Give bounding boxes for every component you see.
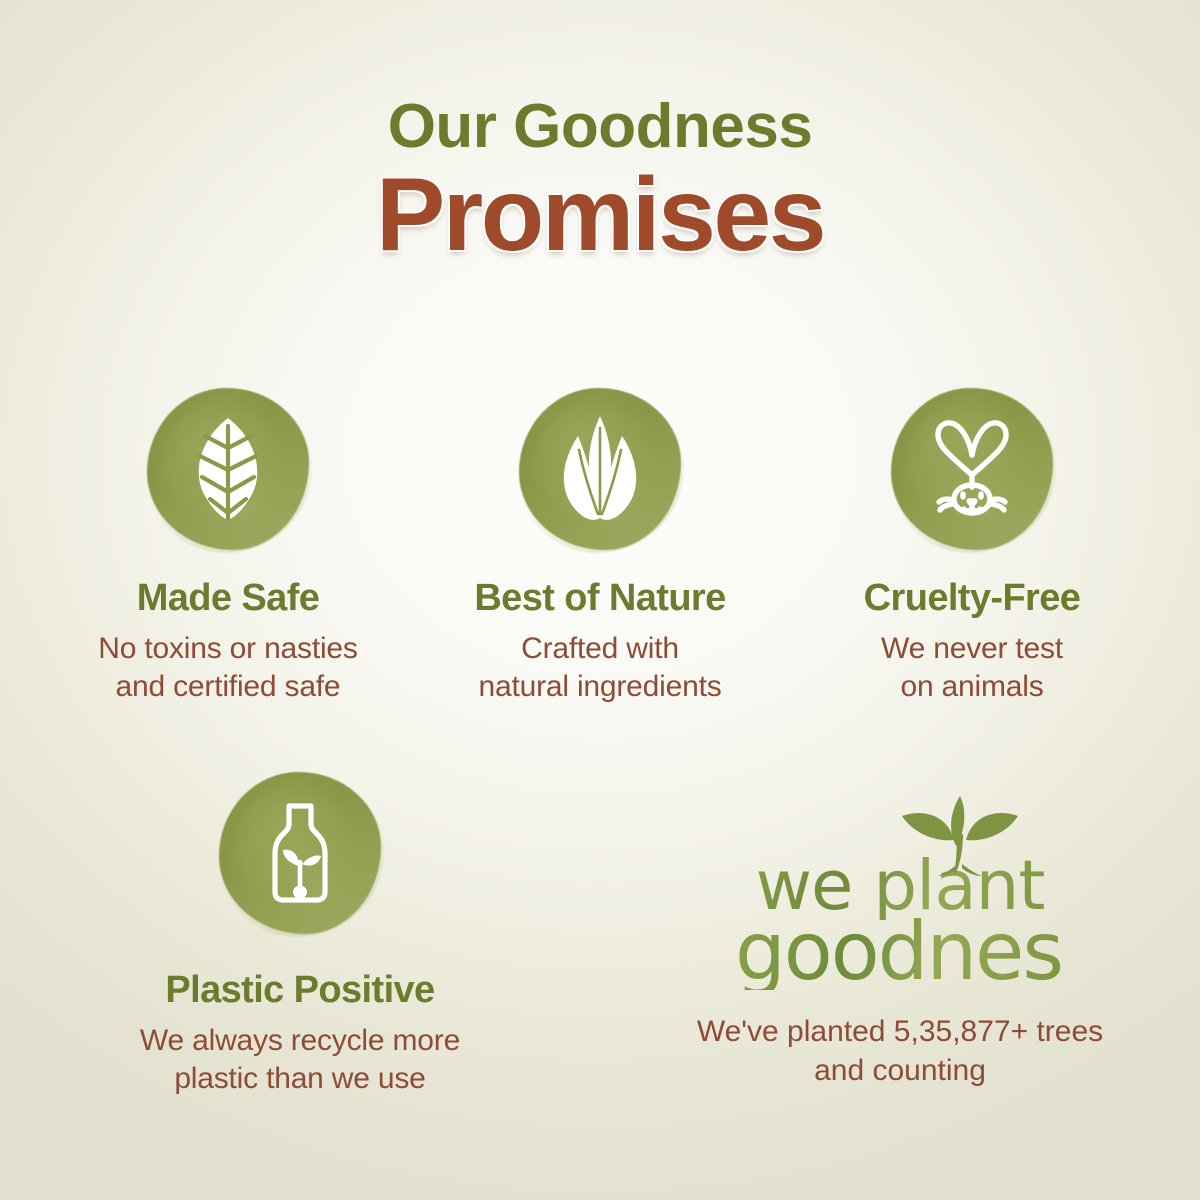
logo-line-2: goodness [735, 914, 1065, 990]
promise-title: Cruelty-Free [864, 578, 1081, 620]
promise-card-plastic-positive: Plastic Positive We always recycle more … [0, 772, 600, 1099]
promise-icon-badge [891, 388, 1053, 550]
three-leaves-icon [548, 414, 652, 524]
promise-description-line-2: and certified safe [98, 668, 357, 706]
promise-description-line-1: Crafted with [478, 630, 721, 668]
promise-description-line-1: We always recycle more [140, 1022, 460, 1060]
promise-icon-badge [519, 388, 681, 550]
trees-planted-caption: We've planted 5,35,877+ trees and counti… [697, 1012, 1103, 1090]
leaf-icon [183, 414, 273, 524]
promise-card-best-of-nature: Best of Nature Crafted with natural ingr… [424, 388, 776, 707]
promise-description-line-2: plastic than we use [140, 1060, 460, 1098]
promise-description-line-1: No toxins or nasties [98, 630, 357, 668]
page-title: Our Goodness Promises [0, 96, 1200, 268]
promise-icon-badge [147, 388, 309, 550]
bottle-sprout-icon [255, 800, 345, 906]
trees-planted-line-1: We've planted 5,35,877+ trees [697, 1012, 1103, 1051]
promise-card-made-safe: Made Safe No toxins or nasties and certi… [52, 388, 404, 707]
promise-description: We always recycle more plastic than we u… [140, 1022, 460, 1099]
promise-description-line-2: on animals [881, 668, 1063, 706]
promises-poster: Our Goodness Promises [0, 0, 1200, 1200]
promise-description: Crafted with natural ingredients [478, 630, 721, 707]
promise-title: Made Safe [137, 578, 320, 620]
promise-description-line-2: natural ingredients [478, 668, 721, 706]
promise-icon-badge [219, 772, 381, 934]
promise-title: Best of Nature [474, 578, 725, 620]
trees-planted-line-2: and counting [697, 1051, 1103, 1090]
promises-row-top: Made Safe No toxins or nasties and certi… [0, 388, 1200, 707]
sprout-icon [880, 794, 1040, 880]
promise-description-line-1: We never test [881, 630, 1063, 668]
promises-row-bottom: Plastic Positive We always recycle more … [0, 772, 1200, 1099]
bunny-heart-ears-icon [916, 413, 1028, 525]
title-line-1: Our Goodness [0, 96, 1200, 158]
promise-card-cruelty-free: Cruelty-Free We never test on animals [796, 388, 1148, 707]
promise-title: Plastic Positive [165, 970, 434, 1012]
title-line-2: Promises [0, 162, 1200, 268]
promise-description: We never test on animals [881, 630, 1063, 707]
we-plant-goodness-block: we plant goodness We've planted 5,35,877… [600, 772, 1200, 1099]
we-plant-goodness-logo: we plant goodness [735, 796, 1065, 990]
promise-description: No toxins or nasties and certified safe [98, 630, 357, 707]
